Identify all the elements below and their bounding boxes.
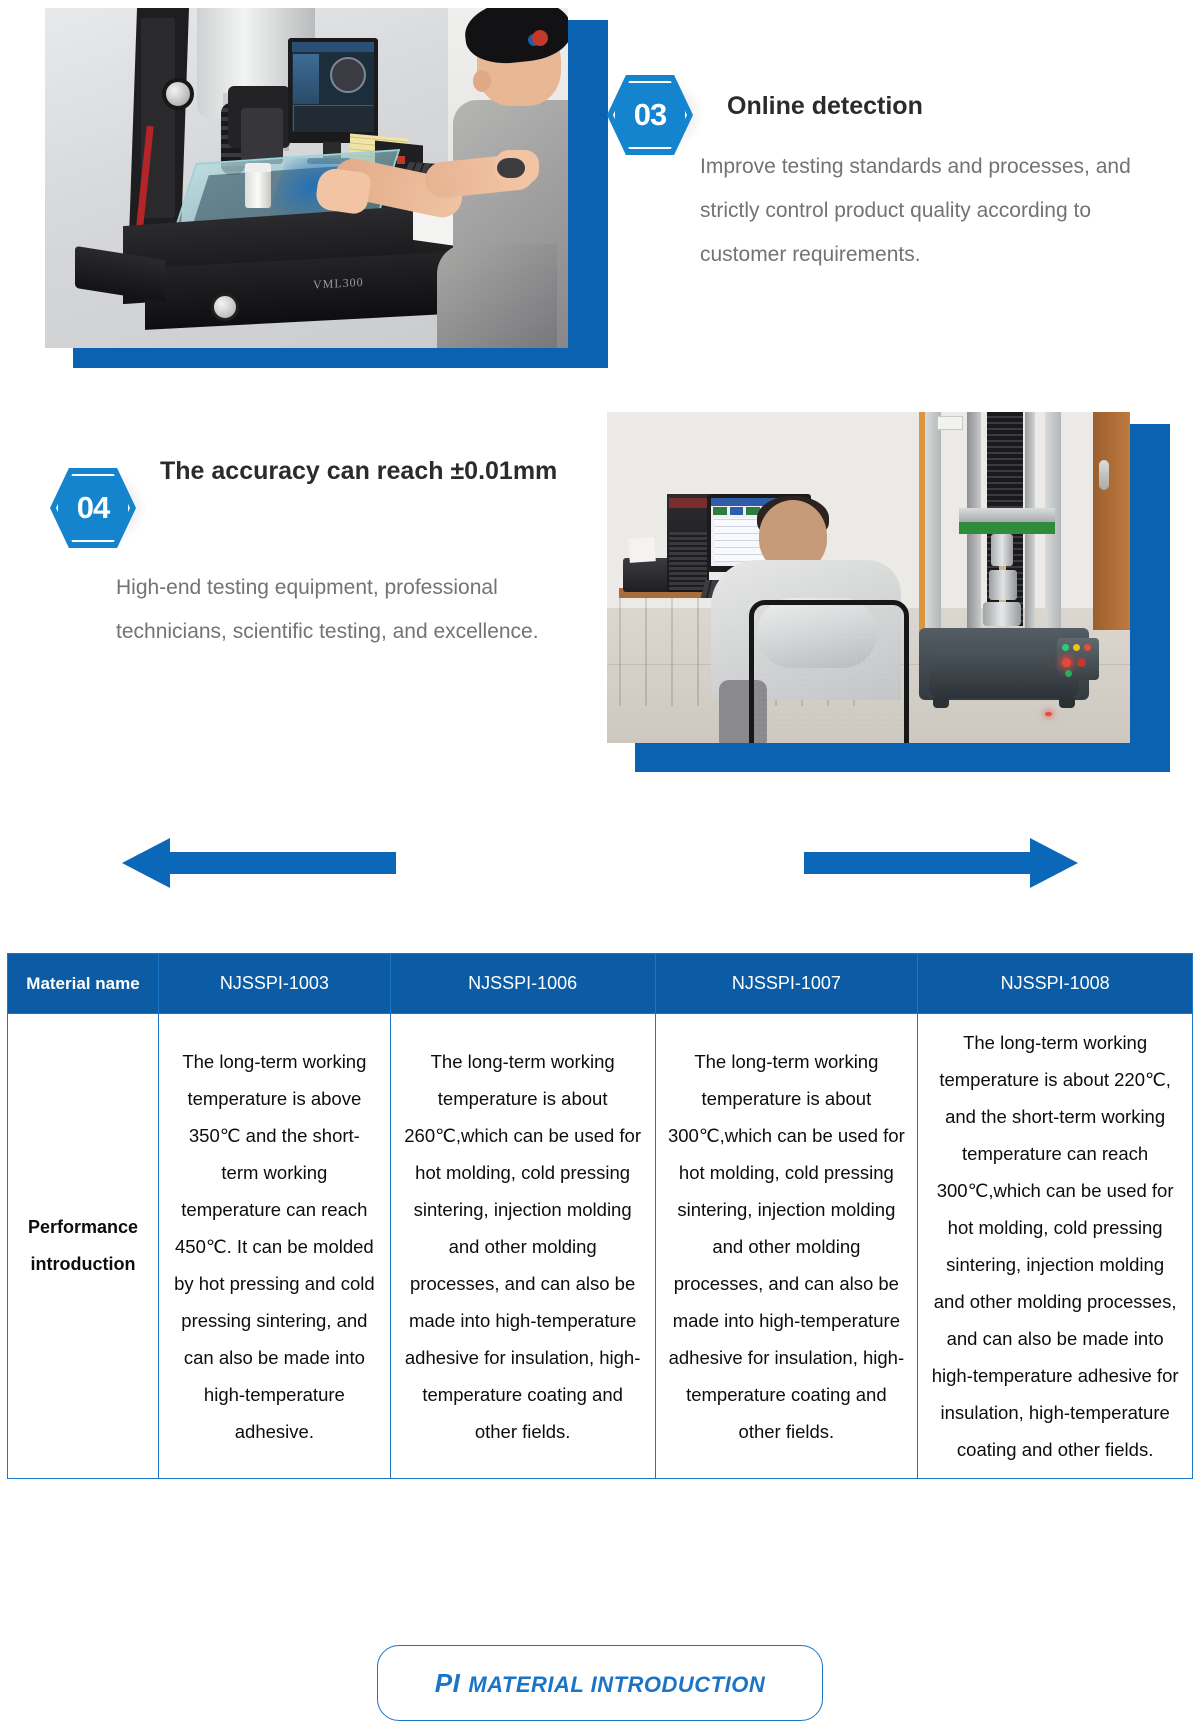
banner-label: PIMATERIAL INTRODUCTION (435, 1668, 765, 1699)
banner-label-rest: MATERIAL INTRODUCTION (468, 1672, 765, 1697)
table-header: Material name NJSSPI-1003 NJSSPI-1006 NJ… (8, 954, 1193, 1014)
banner-arrows (0, 820, 1200, 920)
section-title-online-detection: Online detection (727, 85, 1147, 127)
section-online-detection: VML300 03 Online detection Improve testi… (0, 0, 1200, 400)
photo-online-detection: VML300 (45, 8, 580, 356)
column-header-njsspi-1008: NJSSPI-1008 (918, 954, 1193, 1014)
badge-number: 03 (607, 75, 693, 155)
photo-image-metrology: VML300 (45, 8, 568, 348)
right-arrow-icon (804, 838, 1078, 888)
badge-04: 04 (50, 460, 146, 556)
pi-material-banner: PIMATERIAL INTRODUCTION (0, 820, 1200, 920)
section-title-accuracy: The accuracy can reach ±0.01mm (160, 450, 560, 492)
cell-njsspi-1008: The long-term working temperature is abo… (918, 1014, 1193, 1479)
table-body: Performance introduction The long-term w… (8, 1014, 1193, 1479)
banner-label-lead: PI (435, 1668, 461, 1698)
column-header-njsspi-1007: NJSSPI-1007 (655, 954, 918, 1014)
column-header-njsspi-1003: NJSSPI-1003 (158, 954, 390, 1014)
photo-accuracy (607, 412, 1142, 760)
left-arrow-icon (122, 838, 396, 888)
photo-image-tensile-lab (607, 412, 1130, 743)
section-accuracy: 04 The accuracy can reach ±0.01mm High-e… (0, 400, 1200, 800)
column-header-njsspi-1006: NJSSPI-1006 (390, 954, 655, 1014)
row-header-performance-introduction: Performance introduction (8, 1014, 159, 1479)
badge-number: 04 (50, 468, 136, 548)
machine-model-label: VML300 (313, 274, 373, 299)
cell-njsspi-1006: The long-term working temperature is abo… (390, 1014, 655, 1479)
section-body-accuracy: High-end testing equipment, professional… (116, 566, 586, 654)
pi-material-table: Material name NJSSPI-1003 NJSSPI-1006 NJ… (7, 953, 1193, 1479)
table-header-row: Material name NJSSPI-1003 NJSSPI-1006 NJ… (8, 954, 1193, 1014)
cell-njsspi-1003: The long-term working temperature is abo… (158, 1014, 390, 1479)
section-body-online-detection: Improve testing standards and processes,… (700, 145, 1140, 277)
cell-njsspi-1007: The long-term working temperature is abo… (655, 1014, 918, 1479)
banner-pill: PIMATERIAL INTRODUCTION (377, 1645, 823, 1721)
table-row: Performance introduction The long-term w… (8, 1014, 1193, 1479)
badge-03: 03 (607, 67, 703, 163)
column-header-material-name: Material name (8, 954, 159, 1014)
